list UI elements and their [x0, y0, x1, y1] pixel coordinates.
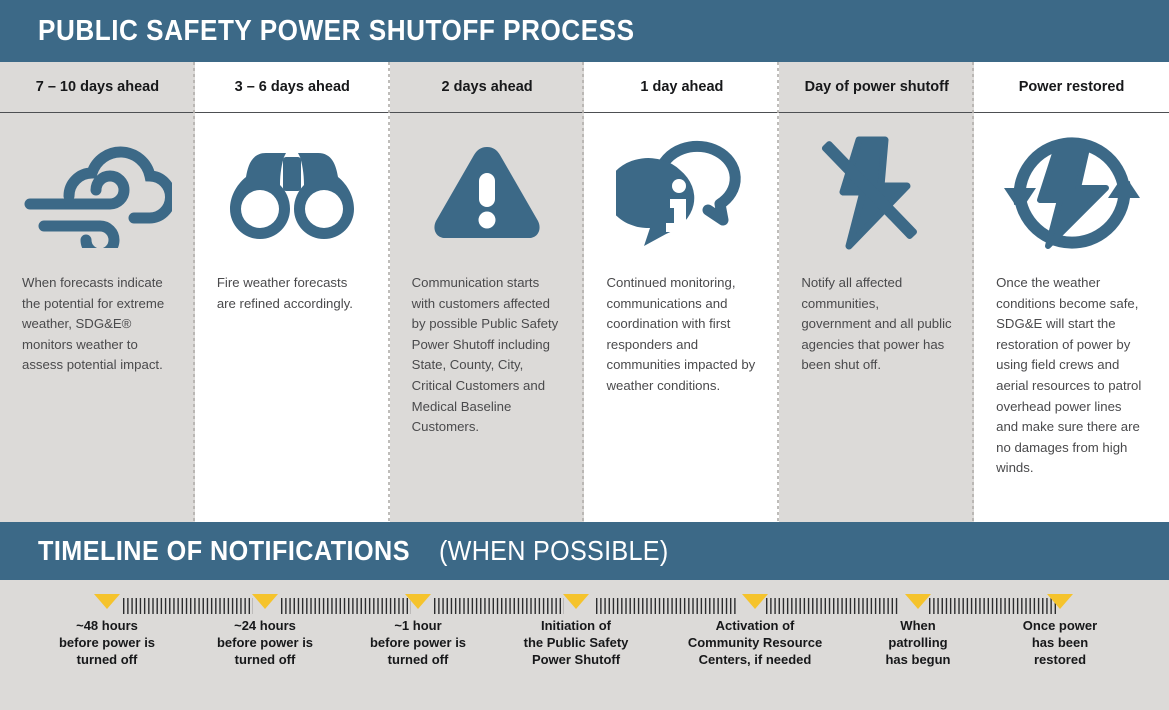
column-heading: 3 – 6 days ahead: [195, 62, 390, 113]
timeline-milestone: ~48 hours before power is turned off: [37, 594, 177, 668]
timeline-marker-icon: [905, 594, 931, 609]
power-off-bolt-icon: [779, 113, 974, 273]
timeline-marker-icon: [252, 594, 278, 609]
timeline-marker-icon: [405, 594, 431, 609]
timeline-milestone-label: ~48 hours before power is turned off: [37, 617, 177, 668]
power-restored-bolt-icon: [974, 113, 1169, 273]
column-body: Notify all affected communities, governm…: [779, 273, 974, 522]
process-column-2-days: 2 days ahead Communication starts with c…: [390, 62, 585, 522]
timeline-milestone: When patrolling has begun: [855, 594, 981, 668]
psps-infographic: PUBLIC SAFETY POWER SHUTOFF PROCESS 7 – …: [0, 0, 1169, 710]
binoculars-icon: [195, 113, 390, 273]
timeline-milestone: Once power has been restored: [995, 594, 1125, 668]
column-body: Continued monitoring, communications and…: [584, 273, 779, 522]
timeline-area: ~48 hours before power is turned off ~24…: [0, 580, 1169, 710]
column-heading: Day of power shutoff: [779, 62, 974, 113]
timeline-milestone-label: Initiation of the Public Safety Power Sh…: [495, 617, 657, 668]
column-body: Fire weather forecasts are refined accor…: [195, 273, 390, 522]
column-body-text: Continued monitoring, communications and…: [606, 273, 757, 397]
cloud-wind-icon: [0, 113, 195, 273]
process-column-power-restored: Power restored Once the weather conditio…: [974, 62, 1169, 522]
timeline-milestone-label: ~24 hours before power is turned off: [195, 617, 335, 668]
process-column-1-day: 1 day ahead Continued monitoring, commun…: [584, 62, 779, 522]
timeline-track: ~48 hours before power is turned off ~24…: [0, 580, 1169, 710]
timeline-subtitle: (WHEN POSSIBLE): [439, 535, 668, 567]
timeline-milestone-label: ~1 hour before power is turned off: [348, 617, 488, 668]
timeline-milestone: ~24 hours before power is turned off: [195, 594, 335, 668]
column-body-text: When forecasts indicate the potential fo…: [22, 273, 173, 376]
process-column-7-10-days: 7 – 10 days ahead When forecasts indicat…: [0, 62, 195, 522]
warning-triangle-icon: [390, 113, 585, 273]
timeline-marker-icon: [94, 594, 120, 609]
column-heading: 2 days ahead: [390, 62, 585, 113]
column-body: When forecasts indicate the potential fo…: [0, 273, 195, 522]
column-body-text: Notify all affected communities, governm…: [801, 273, 952, 376]
main-title-band: PUBLIC SAFETY POWER SHUTOFF PROCESS: [0, 0, 1169, 62]
timeline-marker-icon: [563, 594, 589, 609]
process-column-3-6-days: 3 – 6 days ahead Fire weather forecasts …: [195, 62, 390, 522]
timeline-title: TIMELINE OF NOTIFICATIONS: [38, 535, 410, 567]
column-body: Communication starts with customers affe…: [390, 273, 585, 522]
page-title: PUBLIC SAFETY POWER SHUTOFF PROCESS: [38, 15, 635, 48]
timeline-milestone: ~1 hour before power is turned off: [348, 594, 488, 668]
process-column-day-of-shutoff: Day of power shutoff Notify all affected…: [779, 62, 974, 522]
timeline-milestone-label: When patrolling has begun: [855, 617, 981, 668]
column-heading: Power restored: [974, 62, 1169, 113]
timeline-milestone-label: Activation of Community Resource Centers…: [662, 617, 848, 668]
timeline-milestone-label: Once power has been restored: [995, 617, 1125, 668]
info-speech-bubble-icon: [584, 113, 779, 273]
process-columns: 7 – 10 days ahead When forecasts indicat…: [0, 62, 1169, 522]
timeline-marker-icon: [1047, 594, 1073, 609]
timeline-marker-icon: [742, 594, 768, 609]
column-body-text: Communication starts with customers affe…: [412, 273, 563, 438]
column-heading: 1 day ahead: [584, 62, 779, 113]
column-heading: 7 – 10 days ahead: [0, 62, 195, 113]
timeline-milestone: Initiation of the Public Safety Power Sh…: [495, 594, 657, 668]
timeline-title-band: TIMELINE OF NOTIFICATIONS (WHEN POSSIBLE…: [0, 522, 1169, 580]
column-body: Once the weather conditions become safe,…: [974, 273, 1169, 522]
column-body-text: Once the weather conditions become safe,…: [996, 273, 1147, 479]
timeline-milestone: Activation of Community Resource Centers…: [662, 594, 848, 668]
column-body-text: Fire weather forecasts are refined accor…: [217, 273, 368, 314]
